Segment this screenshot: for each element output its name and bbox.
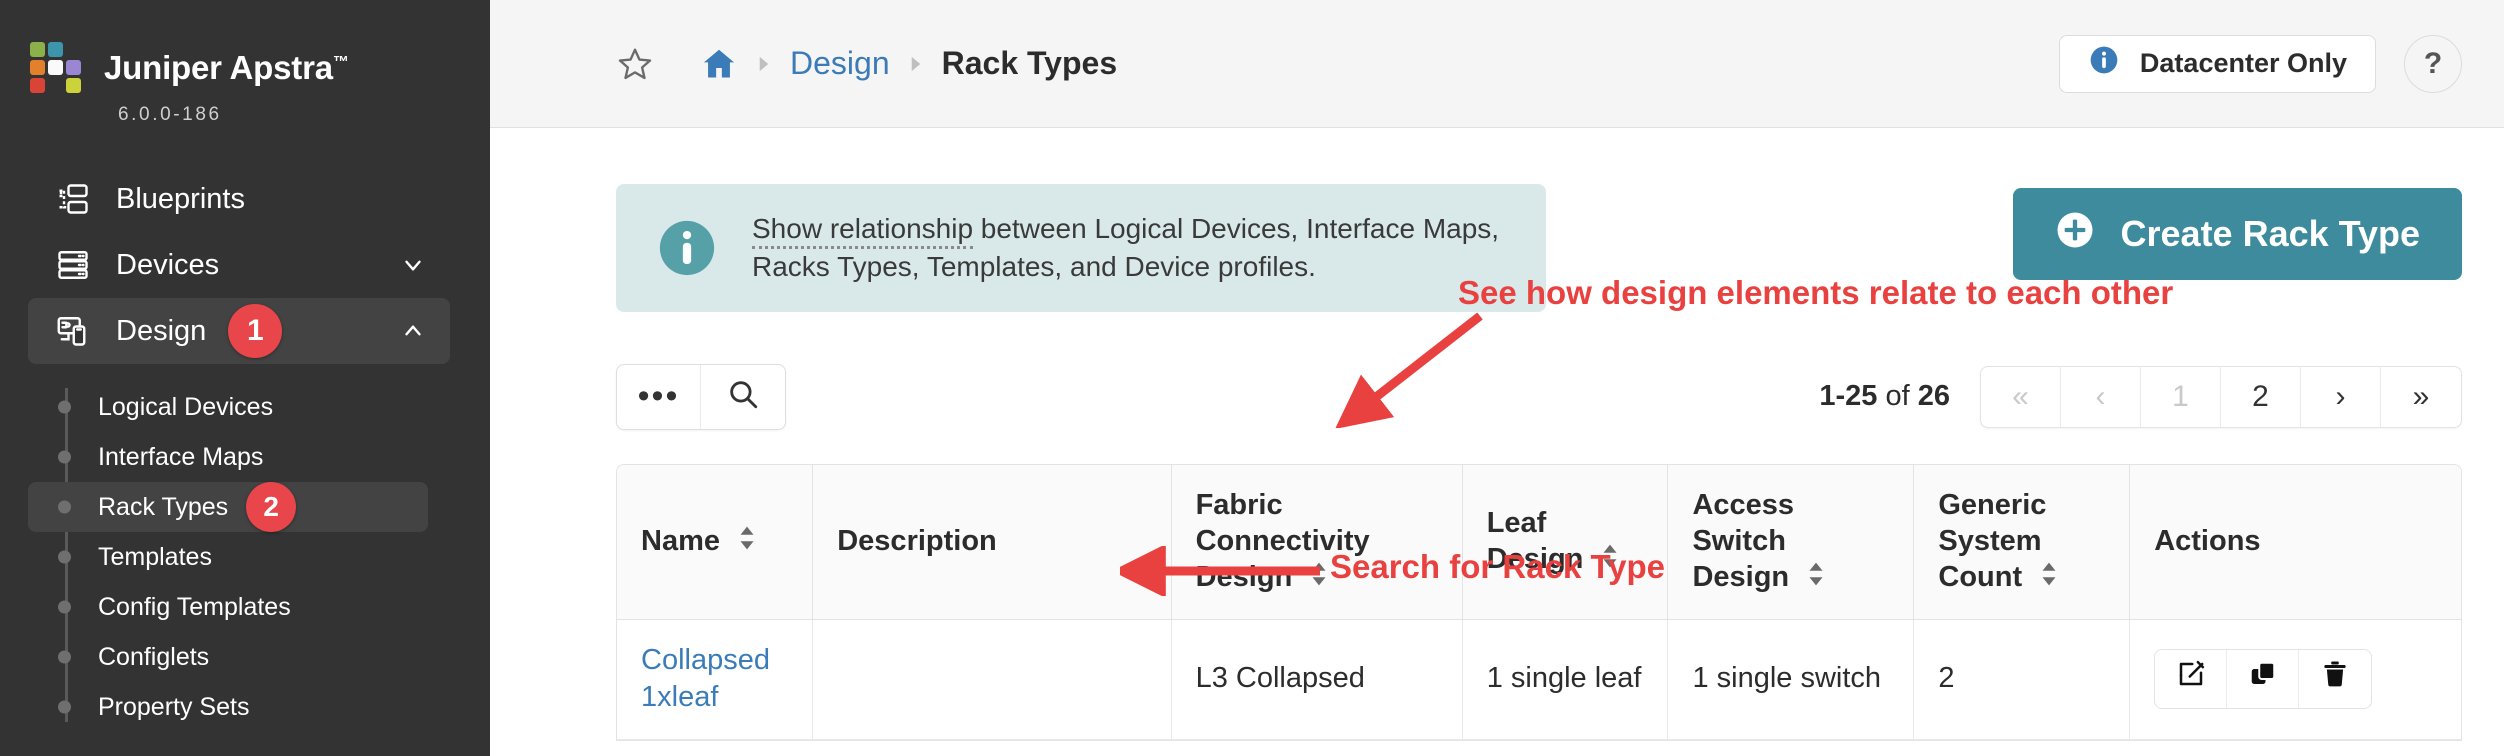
sidebar-item-blueprints[interactable]: Blueprints xyxy=(28,166,450,232)
blueprints-icon xyxy=(54,180,92,218)
create-rack-type-label: Create Rack Type xyxy=(2121,213,2420,255)
toolbar-button-group: ••• xyxy=(616,364,786,430)
juniper-apstra-logo-icon xyxy=(30,42,82,94)
top-bar-actions: Datacenter Only ? xyxy=(2059,35,2462,93)
row-action-group xyxy=(2154,649,2372,709)
delete-button[interactable] xyxy=(2299,650,2371,708)
pagination-controls: « ‹ 1 2 › » xyxy=(1980,366,2462,428)
sidebar: Juniper Apstra™ 6.0.0-186 Blueprints xyxy=(0,0,490,756)
sort-icon[interactable] xyxy=(1601,542,1621,578)
create-rack-type-button[interactable]: Create Rack Type xyxy=(2013,188,2462,280)
pagination-last-button[interactable]: » xyxy=(2381,367,2461,427)
plus-circle-icon xyxy=(2055,210,2095,259)
content-area: Show relationship between Logical Device… xyxy=(490,128,2504,741)
sidebar-subitem-label: Interface Maps xyxy=(98,443,263,472)
datacenter-only-button[interactable]: Datacenter Only xyxy=(2059,35,2376,93)
search-button[interactable] xyxy=(701,365,785,429)
sort-icon[interactable] xyxy=(738,524,758,560)
cell-fabric-connectivity-design: L3 Collapsed xyxy=(1171,619,1462,739)
column-header-access-switch-design[interactable]: Access Switch Design xyxy=(1668,465,1914,619)
column-header-name[interactable]: Name xyxy=(617,465,813,619)
cell-name: Collapsed 1xleaf xyxy=(617,619,813,739)
sidebar-item-label: Design xyxy=(116,315,206,348)
bullet-icon xyxy=(58,451,71,464)
sidebar-item-label: Devices xyxy=(116,249,219,282)
search-icon xyxy=(726,377,760,416)
edit-icon xyxy=(2176,659,2206,700)
column-label: Name xyxy=(641,525,720,557)
cell-leaf-design: 1 single leaf xyxy=(1462,619,1668,739)
pagination-page-2[interactable]: 2 xyxy=(2221,367,2301,427)
pagination-range: 1-25 of 26 xyxy=(1819,380,1950,413)
sidebar-item-configlets[interactable]: Configlets xyxy=(28,632,428,682)
sidebar-item-label: Blueprints xyxy=(116,183,245,216)
pagination-total: 26 xyxy=(1918,380,1950,412)
help-button[interactable]: ? xyxy=(2404,35,2462,93)
sidebar-subitem-label: Rack Types xyxy=(98,493,228,522)
info-banner: Show relationship between Logical Device… xyxy=(616,184,1546,312)
top-bar: Design Rack Types Datacenter Only xyxy=(490,0,2504,128)
pagination-of-label: of xyxy=(1877,380,1917,412)
sidebar-subitem-label: Configlets xyxy=(98,643,209,672)
chevron-up-icon[interactable] xyxy=(400,318,426,344)
sidebar-subitem-label: Templates xyxy=(98,543,212,572)
sidebar-subitem-label: Config Templates xyxy=(98,593,291,622)
table-toolbar: ••• 1-25 of 26 « ‹ xyxy=(616,364,2462,430)
brand-title: Juniper Apstra™ xyxy=(104,49,349,87)
rack-types-table: Name Description Fabric Connectivity Des… xyxy=(616,464,2462,741)
edit-button[interactable] xyxy=(2155,650,2227,708)
column-header-leaf-design[interactable]: Leaf Design xyxy=(1462,465,1668,619)
pagination-first-button[interactable]: « xyxy=(1981,367,2061,427)
sidebar-item-logical-devices[interactable]: Logical Devices xyxy=(28,382,428,432)
column-header-generic-system-count[interactable]: Generic System Count xyxy=(1914,465,2130,619)
sort-icon[interactable] xyxy=(2040,560,2060,596)
home-icon[interactable] xyxy=(700,45,738,83)
cell-actions xyxy=(2130,619,2461,739)
sidebar-item-design[interactable]: Design 1 xyxy=(28,298,450,364)
step-badge-1: 1 xyxy=(228,304,282,358)
breadcrumb: Design Rack Types xyxy=(616,45,2059,83)
more-options-button[interactable]: ••• xyxy=(617,365,701,429)
column-label: Generic System Count xyxy=(1938,489,2046,594)
pagination-range-value: 1-25 xyxy=(1819,380,1877,412)
bullet-icon xyxy=(58,401,71,414)
pagination-page-1[interactable]: 1 xyxy=(2141,367,2221,427)
sidebar-item-property-sets[interactable]: Property Sets xyxy=(28,682,428,732)
table-header-row: Name Description Fabric Connectivity Des… xyxy=(617,465,2461,619)
breadcrumb-separator-icon xyxy=(756,54,772,74)
sidebar-item-rack-types[interactable]: Rack Types 2 xyxy=(28,482,428,532)
sidebar-item-templates[interactable]: Templates xyxy=(28,532,428,582)
page-title: Rack Types xyxy=(942,45,1118,82)
column-label: Leaf Design xyxy=(1487,507,1584,575)
clone-icon xyxy=(2248,659,2278,700)
info-circle-icon xyxy=(656,217,718,279)
bullet-icon xyxy=(58,651,71,664)
brand-header: Juniper Apstra™ xyxy=(0,0,490,94)
sort-icon[interactable] xyxy=(1310,560,1330,596)
bullet-icon xyxy=(58,701,71,714)
version-label: 6.0.0-186 xyxy=(118,104,490,126)
banner-row: Show relationship between Logical Device… xyxy=(616,128,2462,312)
brand-name: Juniper Apstra xyxy=(104,49,333,86)
pagination-next-button[interactable]: › xyxy=(2301,367,2381,427)
column-header-description: Description xyxy=(813,465,1171,619)
show-relationship-link[interactable]: Show relationship xyxy=(752,213,973,249)
pagination-prev-button[interactable]: ‹ xyxy=(2061,367,2141,427)
rack-type-link[interactable]: Collapsed 1xleaf xyxy=(641,644,770,714)
column-label: Fabric Connectivity Design xyxy=(1196,489,1370,594)
column-label: Access Switch Design xyxy=(1692,489,1794,594)
sidebar-item-devices[interactable]: Devices xyxy=(28,232,450,298)
datacenter-only-label: Datacenter Only xyxy=(2140,48,2347,79)
chevron-down-icon[interactable] xyxy=(400,252,426,278)
primary-nav: Blueprints Devices xyxy=(0,166,490,732)
step-badge-2: 2 xyxy=(246,482,296,532)
design-icon xyxy=(54,312,92,350)
info-banner-text: Show relationship between Logical Device… xyxy=(752,210,1506,286)
sidebar-item-config-templates[interactable]: Config Templates xyxy=(28,582,428,632)
devices-icon xyxy=(54,246,92,284)
breadcrumb-link-design[interactable]: Design xyxy=(790,45,890,82)
sidebar-subitem-label: Logical Devices xyxy=(98,393,273,422)
column-header-fabric-connectivity-design[interactable]: Fabric Connectivity Design xyxy=(1171,465,1462,619)
column-label: Description xyxy=(837,525,997,557)
sidebar-item-interface-maps[interactable]: Interface Maps xyxy=(28,432,428,482)
design-submenu: Logical Devices Interface Maps Rack Type… xyxy=(0,382,490,732)
sort-icon[interactable] xyxy=(1807,560,1827,596)
app-root: Juniper Apstra™ 6.0.0-186 Blueprints xyxy=(0,0,2504,756)
bullet-icon xyxy=(58,501,71,514)
column-label: Actions xyxy=(2154,525,2260,557)
bullet-icon xyxy=(58,551,71,564)
more-options-icon: ••• xyxy=(638,390,680,404)
cell-generic-system-count: 2 xyxy=(1914,619,2130,739)
cell-access-switch-design: 1 single switch xyxy=(1668,619,1914,739)
favorite-star-icon[interactable] xyxy=(616,45,654,83)
table-row: Collapsed 1xleaf L3 Collapsed 1 single l… xyxy=(617,619,2461,739)
delete-icon xyxy=(2320,659,2350,700)
trademark-symbol: ™ xyxy=(333,54,349,71)
bullet-icon xyxy=(58,601,71,614)
cell-description xyxy=(813,619,1171,739)
main-panel: Design Rack Types Datacenter Only xyxy=(490,0,2504,756)
sidebar-subitem-label: Property Sets xyxy=(98,693,249,722)
breadcrumb-separator-icon xyxy=(908,54,924,74)
column-header-actions: Actions xyxy=(2130,465,2461,619)
info-icon xyxy=(2088,44,2120,83)
clone-button[interactable] xyxy=(2227,650,2299,708)
